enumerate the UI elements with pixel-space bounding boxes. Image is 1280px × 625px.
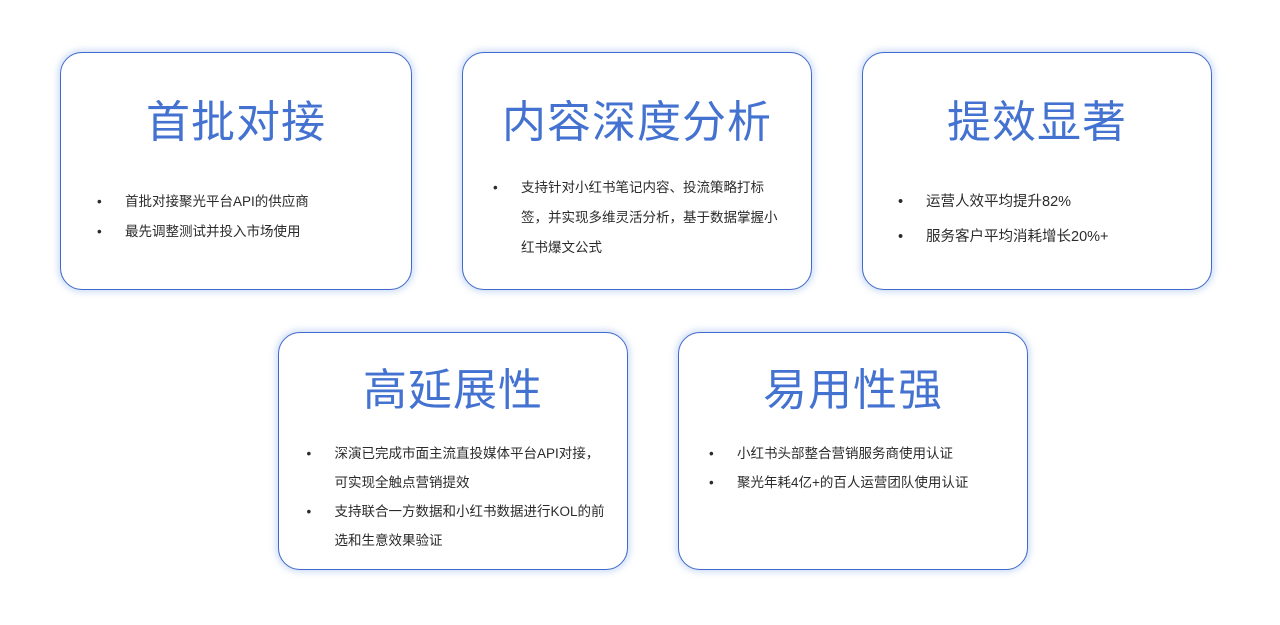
bullet-text: 小红书头部整合营销服务商使用认证: [737, 439, 1003, 468]
bullet-text: 深演已完成市面主流直投媒体平台API对接，可实现全触点营销提效: [335, 439, 606, 497]
bullet-point-icon: •: [493, 173, 498, 203]
bullet-text: 服务客户平均消耗增长20%+: [926, 220, 1182, 255]
card-bullet-list: • 小红书头部整合营销服务商使用认证 • 聚光年耗4亿+的百人运营团队使用认证: [703, 439, 1003, 497]
feature-card-content-depth-analysis[interactable]: 内容深度分析 • 支持针对小红书笔记内容、投流策略打标签，并实现多维灵活分析，基…: [462, 52, 812, 290]
bullet-point-icon: •: [709, 468, 714, 497]
list-item: • 支持针对小红书笔记内容、投流策略打标签，并实现多维灵活分析，基于数据掌握小红…: [487, 173, 787, 263]
feature-card-ease-of-use[interactable]: 易用性强 • 小红书头部整合营销服务商使用认证 • 聚光年耗4亿+的百人运营团队…: [678, 332, 1028, 570]
card-bullet-list: • 首批对接聚光平台API的供应商 • 最先调整测试并投入市场使用: [91, 187, 381, 247]
bullet-point-icon: •: [898, 220, 903, 255]
card-bullet-list: • 运营人效平均提升82% • 服务客户平均消耗增长20%+: [892, 185, 1182, 255]
card-bullet-list: • 深演已完成市面主流直投媒体平台API对接，可实现全触点营销提效 • 支持联合…: [301, 439, 606, 555]
feature-card-high-extensibility[interactable]: 高延展性 • 深演已完成市面主流直投媒体平台API对接，可实现全触点营销提效 •…: [278, 332, 628, 570]
bullet-point-icon: •: [307, 439, 312, 468]
list-item: • 最先调整测试并投入市场使用: [91, 217, 381, 247]
list-item: • 运营人效平均提升82%: [892, 185, 1182, 220]
list-item: • 深演已完成市面主流直投媒体平台API对接，可实现全触点营销提效: [301, 439, 606, 497]
bullet-point-icon: •: [709, 439, 714, 468]
bullet-point-icon: •: [898, 185, 903, 220]
card-title: 易用性强: [763, 369, 943, 413]
bullet-text: 聚光年耗4亿+的百人运营团队使用认证: [737, 468, 1003, 497]
card-title: 提效显著: [947, 101, 1127, 145]
list-item: • 服务客户平均消耗增长20%+: [892, 220, 1182, 255]
card-title: 高延展性: [363, 369, 543, 413]
list-item: • 小红书头部整合营销服务商使用认证: [703, 439, 1003, 468]
bullet-point-icon: •: [307, 497, 312, 526]
feature-card-efficiency-gain[interactable]: 提效显著 • 运营人效平均提升82% • 服务客户平均消耗增长20%+: [862, 52, 1212, 290]
bullet-text: 运营人效平均提升82%: [926, 185, 1182, 220]
feature-card-first-integration[interactable]: 首批对接 • 首批对接聚光平台API的供应商 • 最先调整测试并投入市场使用: [60, 52, 412, 290]
slide-canvas: 首批对接 • 首批对接聚光平台API的供应商 • 最先调整测试并投入市场使用 内…: [0, 0, 1280, 625]
card-title: 内容深度分析: [502, 101, 772, 145]
bullet-point-icon: •: [97, 187, 102, 217]
card-bullet-list: • 支持针对小红书笔记内容、投流策略打标签，并实现多维灵活分析，基于数据掌握小红…: [487, 173, 787, 263]
card-title: 首批对接: [146, 101, 326, 145]
bullet-text: 支持针对小红书笔记内容、投流策略打标签，并实现多维灵活分析，基于数据掌握小红书爆…: [521, 173, 787, 263]
bullet-text: 最先调整测试并投入市场使用: [125, 217, 381, 247]
bullet-text: 支持联合一方数据和小红书数据进行KOL的前选和生意效果验证: [335, 497, 606, 555]
bullet-point-icon: •: [97, 217, 102, 247]
bullet-text: 首批对接聚光平台API的供应商: [125, 187, 381, 217]
list-item: • 首批对接聚光平台API的供应商: [91, 187, 381, 217]
list-item: • 支持联合一方数据和小红书数据进行KOL的前选和生意效果验证: [301, 497, 606, 555]
list-item: • 聚光年耗4亿+的百人运营团队使用认证: [703, 468, 1003, 497]
